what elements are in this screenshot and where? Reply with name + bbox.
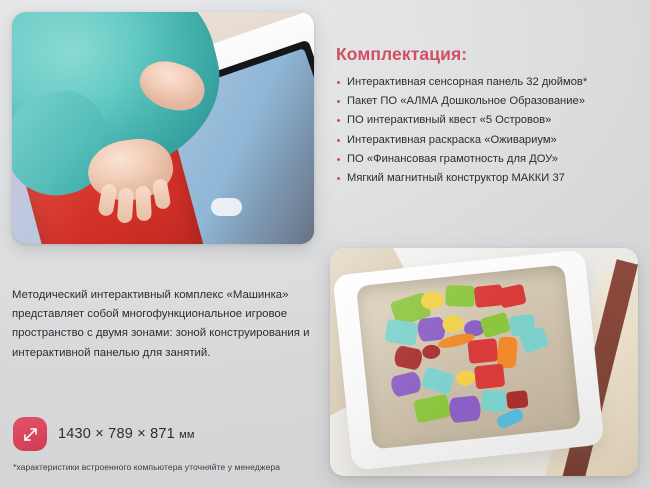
bullet-icon	[337, 81, 340, 84]
list-item-label: Интерактивная раскраска «Оживариум»	[347, 134, 557, 146]
list-item-label: Пакет ПО «АЛМА Дошкольное Образование»	[347, 95, 585, 107]
bullet-icon	[337, 119, 340, 122]
footnote: *характеристики встроенного компьютера у…	[13, 462, 280, 472]
bullet-icon	[337, 158, 340, 161]
resize-diagonal-icon	[13, 417, 47, 451]
list-item: Пакет ПО «АЛМА Дошкольное Образование»	[336, 95, 642, 108]
photo-sheen	[12, 12, 314, 244]
list-item: Интерактивная раскраска «Оживариум»	[336, 134, 642, 147]
specification-list: Интерактивная сенсорная панель 32 дюймов…	[336, 76, 642, 185]
list-item-label: ПО «Финансовая грамотность для ДОУ»	[347, 153, 558, 165]
product-slide: Комплектация: Интерактивная сенсорная па…	[0, 0, 650, 488]
specification-block: Комплектация: Интерактивная сенсорная па…	[336, 44, 642, 191]
dimensions-unit: мм	[179, 429, 195, 441]
photo-block-drawer-image	[330, 248, 638, 476]
dimensions-number: 1430 × 789 × 871	[58, 426, 175, 442]
list-item-label: Мягкий магнитный конструктор МАККИ 37	[347, 172, 565, 184]
photo-interactive-panel-image	[12, 12, 314, 244]
list-item: Мягкий магнитный конструктор МАККИ 37	[336, 172, 642, 185]
product-description: Методический интерактивный комплекс «Маш…	[12, 286, 312, 363]
specification-title: Комплектация:	[336, 44, 642, 65]
bullet-icon	[337, 139, 340, 142]
bullet-icon	[337, 100, 340, 103]
bullet-icon	[337, 177, 340, 180]
dimensions-value: 1430 × 789 × 871 мм	[58, 426, 195, 442]
list-item: ПО интерактивный квест «5 Островов»	[336, 114, 642, 127]
photo-sheen	[330, 248, 638, 476]
photo-card-interactive-panel	[12, 12, 314, 244]
list-item-label: ПО интерактивный квест «5 Островов»	[347, 114, 551, 126]
list-item-label: Интерактивная сенсорная панель 32 дюймов…	[347, 76, 587, 88]
list-item: Интерактивная сенсорная панель 32 дюймов…	[336, 76, 642, 89]
dimensions-row: 1430 × 789 × 871 мм	[13, 417, 195, 451]
photo-card-block-drawer	[330, 248, 638, 476]
list-item: ПО «Финансовая грамотность для ДОУ»	[336, 153, 642, 166]
